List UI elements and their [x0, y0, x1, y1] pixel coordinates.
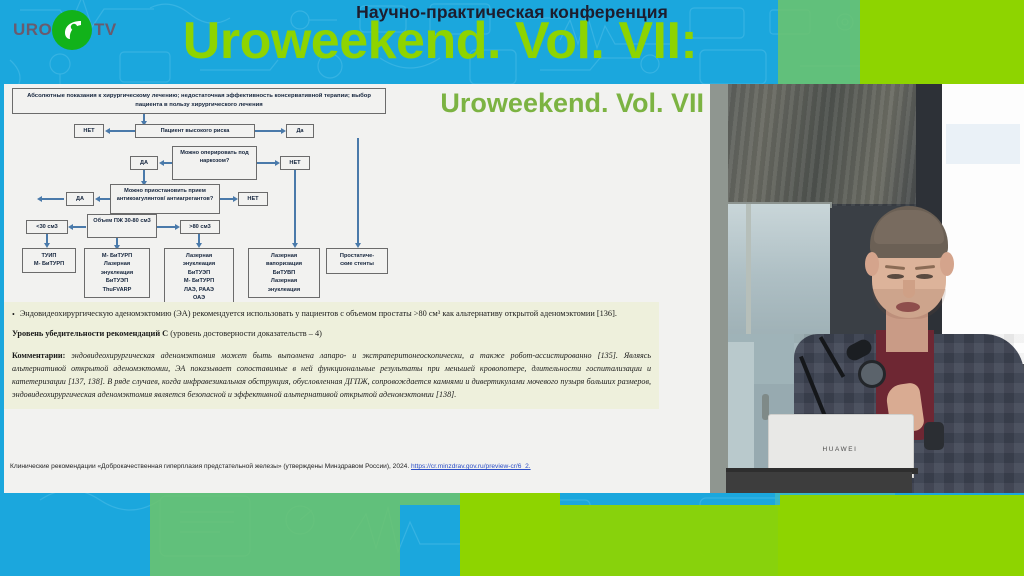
speaker-ear-right: [940, 252, 954, 276]
flow-outcome-4-line-5: энуклеация: [251, 286, 317, 294]
flow-node-anesthesia: Можно оперировать под наркозом?: [172, 146, 257, 180]
flow-arrow-right-4: [157, 226, 175, 228]
flow-outcome-2-line-5: ThuFVARP: [87, 286, 147, 294]
flow-node-lt30: <30 см3: [26, 220, 68, 234]
flow-arrow-left-3: [100, 198, 110, 200]
flow-arrowhead-10: [68, 224, 73, 230]
speaker-video-panel[interactable]: HUAWEI: [710, 84, 1024, 493]
bullet-item: • Эндовидеохирургическую аденомэктомию (…: [12, 308, 651, 321]
speaker-wristwatch: [924, 422, 944, 450]
recommendation-level-rest: (уровень достоверности доказательств – 4…: [170, 329, 322, 338]
flow-arrowhead-5: [275, 160, 280, 166]
flow-node-yes-3: ДА: [66, 192, 94, 206]
speaker-nose: [903, 280, 915, 298]
footnote-link[interactable]: https://cr.minzdrav.gov.ru/preview-cr/6_…: [411, 463, 531, 470]
flow-node-anesthesia-label: Можно оперировать под наркозом?: [175, 149, 254, 166]
laptop-brand-label: HUAWEI: [768, 446, 912, 453]
flow-outcome-2-line-2: Лазерная: [87, 260, 147, 268]
flow-outcome-5-line-1: Простатиче-: [329, 252, 385, 260]
flow-arrow-right-3: [220, 198, 233, 200]
treatment-flowchart: Абсолютные показания к хирургическому ле…: [12, 88, 394, 300]
left-wall-strip: [710, 84, 728, 493]
flow-outcome-3-line-3: БиТУЭП: [167, 269, 231, 277]
flow-outcome-3-line-2: энуклеация: [167, 260, 231, 268]
flow-arrowhead-7: [95, 196, 100, 202]
projection-screen-tint: [946, 124, 1020, 164]
commentary-text: эндовидеохирургическая аденомэктомия мож…: [12, 351, 651, 399]
flow-outcome-4: Лазерная вапоризация БиТУВП Лазерная эну…: [248, 248, 320, 298]
recommendation-level: Уровень убедительности рекомендаций С (у…: [12, 328, 651, 340]
flow-arrow-down-o4: [294, 170, 296, 246]
broadcast-stage: URO TV Научно-практическая конференция U…: [0, 0, 1024, 576]
partner-logos-bar: [0, 493, 1024, 576]
flow-arrow-left-2: [164, 162, 172, 164]
header: URO TV Научно-практическая конференция U…: [0, 0, 1024, 84]
flow-node-anticoagulants-label: Можно приостановить прием антикоагулянто…: [113, 187, 217, 204]
podium: [726, 472, 912, 493]
bullet-text: Эндовидеохирургическую аденомэктомию (ЭА…: [20, 308, 617, 321]
flow-node-indications: Абсолютные показания к хирургическому ле…: [12, 88, 386, 114]
microphone-icon: [858, 360, 886, 388]
flow-outcome-3-line-5: ЛАЭ, РААЭ: [167, 286, 231, 294]
flow-outcome-1-line-2: М- БиТУРП: [25, 260, 73, 268]
flow-outcome-4-line-4: Лазерная: [251, 277, 317, 285]
flow-outcome-5-line-2: ские стенты: [329, 260, 385, 268]
footnote-text: Клинические рекомендации «Доброкачествен…: [10, 463, 411, 470]
speaker-eye-left: [887, 274, 904, 279]
flow-outcome-1: ТУИП М- БиТУРП: [22, 248, 76, 273]
commentary-label: Комментарии:: [12, 351, 65, 360]
flow-outcome-4-line-1: Лазерная: [251, 252, 317, 260]
bullet-dot-icon: •: [12, 308, 15, 321]
flow-node-volume: Объем ПЖ 30-80 см3: [87, 214, 157, 238]
flow-arrow-left-4: [42, 198, 64, 200]
flow-arrow-left-5: [73, 226, 86, 228]
speaker-eye-right: [916, 274, 933, 279]
flow-arrow-right-2: [257, 162, 275, 164]
speaker-mouth: [896, 302, 920, 312]
flow-outcome-2-line-4: БиТУЭП: [87, 277, 147, 285]
slide-title: Uroweekend. Vol. VII: [440, 88, 704, 119]
flow-node-anticoagulants: Можно приостановить прием антикоагулянто…: [110, 184, 220, 214]
flow-node-volume-label: Объем ПЖ 30-80 см3: [90, 217, 154, 225]
flow-node-yes-1: Да: [286, 124, 314, 138]
slide-text-block: • Эндовидеохирургическую аденомэктомию (…: [4, 302, 659, 409]
flow-arrowhead-3: [281, 128, 286, 134]
flow-outcome-2-line-1: М- БиТУРП: [87, 252, 147, 260]
flow-outcome-4-line-3: БиТУВП: [251, 269, 317, 277]
speaker-ear-left: [865, 252, 879, 276]
flow-outcome-2: М- БиТУРП Лазерная энуклеация БиТУЭП Thu…: [84, 248, 150, 298]
flow-outcome-3: Лазерная энуклеация БиТУЭП М- БиТУРП ЛАЭ…: [164, 248, 234, 306]
flow-node-gt80: >80 см3: [180, 220, 220, 234]
flow-outcome-3-line-1: Лазерная: [167, 252, 231, 260]
flow-outcome-2-line-3: энуклеация: [87, 269, 147, 277]
flow-arrow-left-1: [110, 130, 135, 132]
flow-outcome-1-line-1: ТУИП: [25, 252, 73, 260]
flow-arrowhead-8: [37, 196, 42, 202]
commentary-paragraph: Комментарии: эндовидеохирургическая аден…: [12, 349, 651, 401]
flow-node-high-risk: Пациент высокого риска: [135, 124, 255, 138]
flow-node-no-3: НЕТ: [238, 192, 268, 206]
flow-arrow-down-o5: [357, 138, 359, 246]
presentation-slide: Uroweekend. Vol. VII Абсолютные показани…: [4, 84, 710, 493]
flow-arrowhead-2: [105, 128, 110, 134]
recommendation-level-bold: Уровень убедительности рекомендаций С: [12, 329, 170, 338]
wall-panel-texture: [710, 84, 934, 206]
flow-arrowhead-9: [233, 196, 238, 202]
flow-node-yes-2: ДА: [130, 156, 158, 170]
flow-arrow-right-1: [255, 130, 281, 132]
flow-arrowhead-4: [159, 160, 164, 166]
flow-arrowhead-11: [175, 224, 180, 230]
flow-node-no-2: НЕТ: [280, 156, 310, 170]
source-footnote: Клинические рекомендации «Доброкачествен…: [10, 462, 704, 472]
flow-outcome-4-line-2: вапоризация: [251, 260, 317, 268]
flow-outcome-5: Простатиче- ские стенты: [326, 248, 388, 274]
flow-node-no-1: НЕТ: [74, 124, 104, 138]
flow-outcome-3-line-4: М- БиТУРП: [167, 277, 231, 285]
conference-title: Uroweekend. Vol. VII:: [0, 14, 880, 69]
